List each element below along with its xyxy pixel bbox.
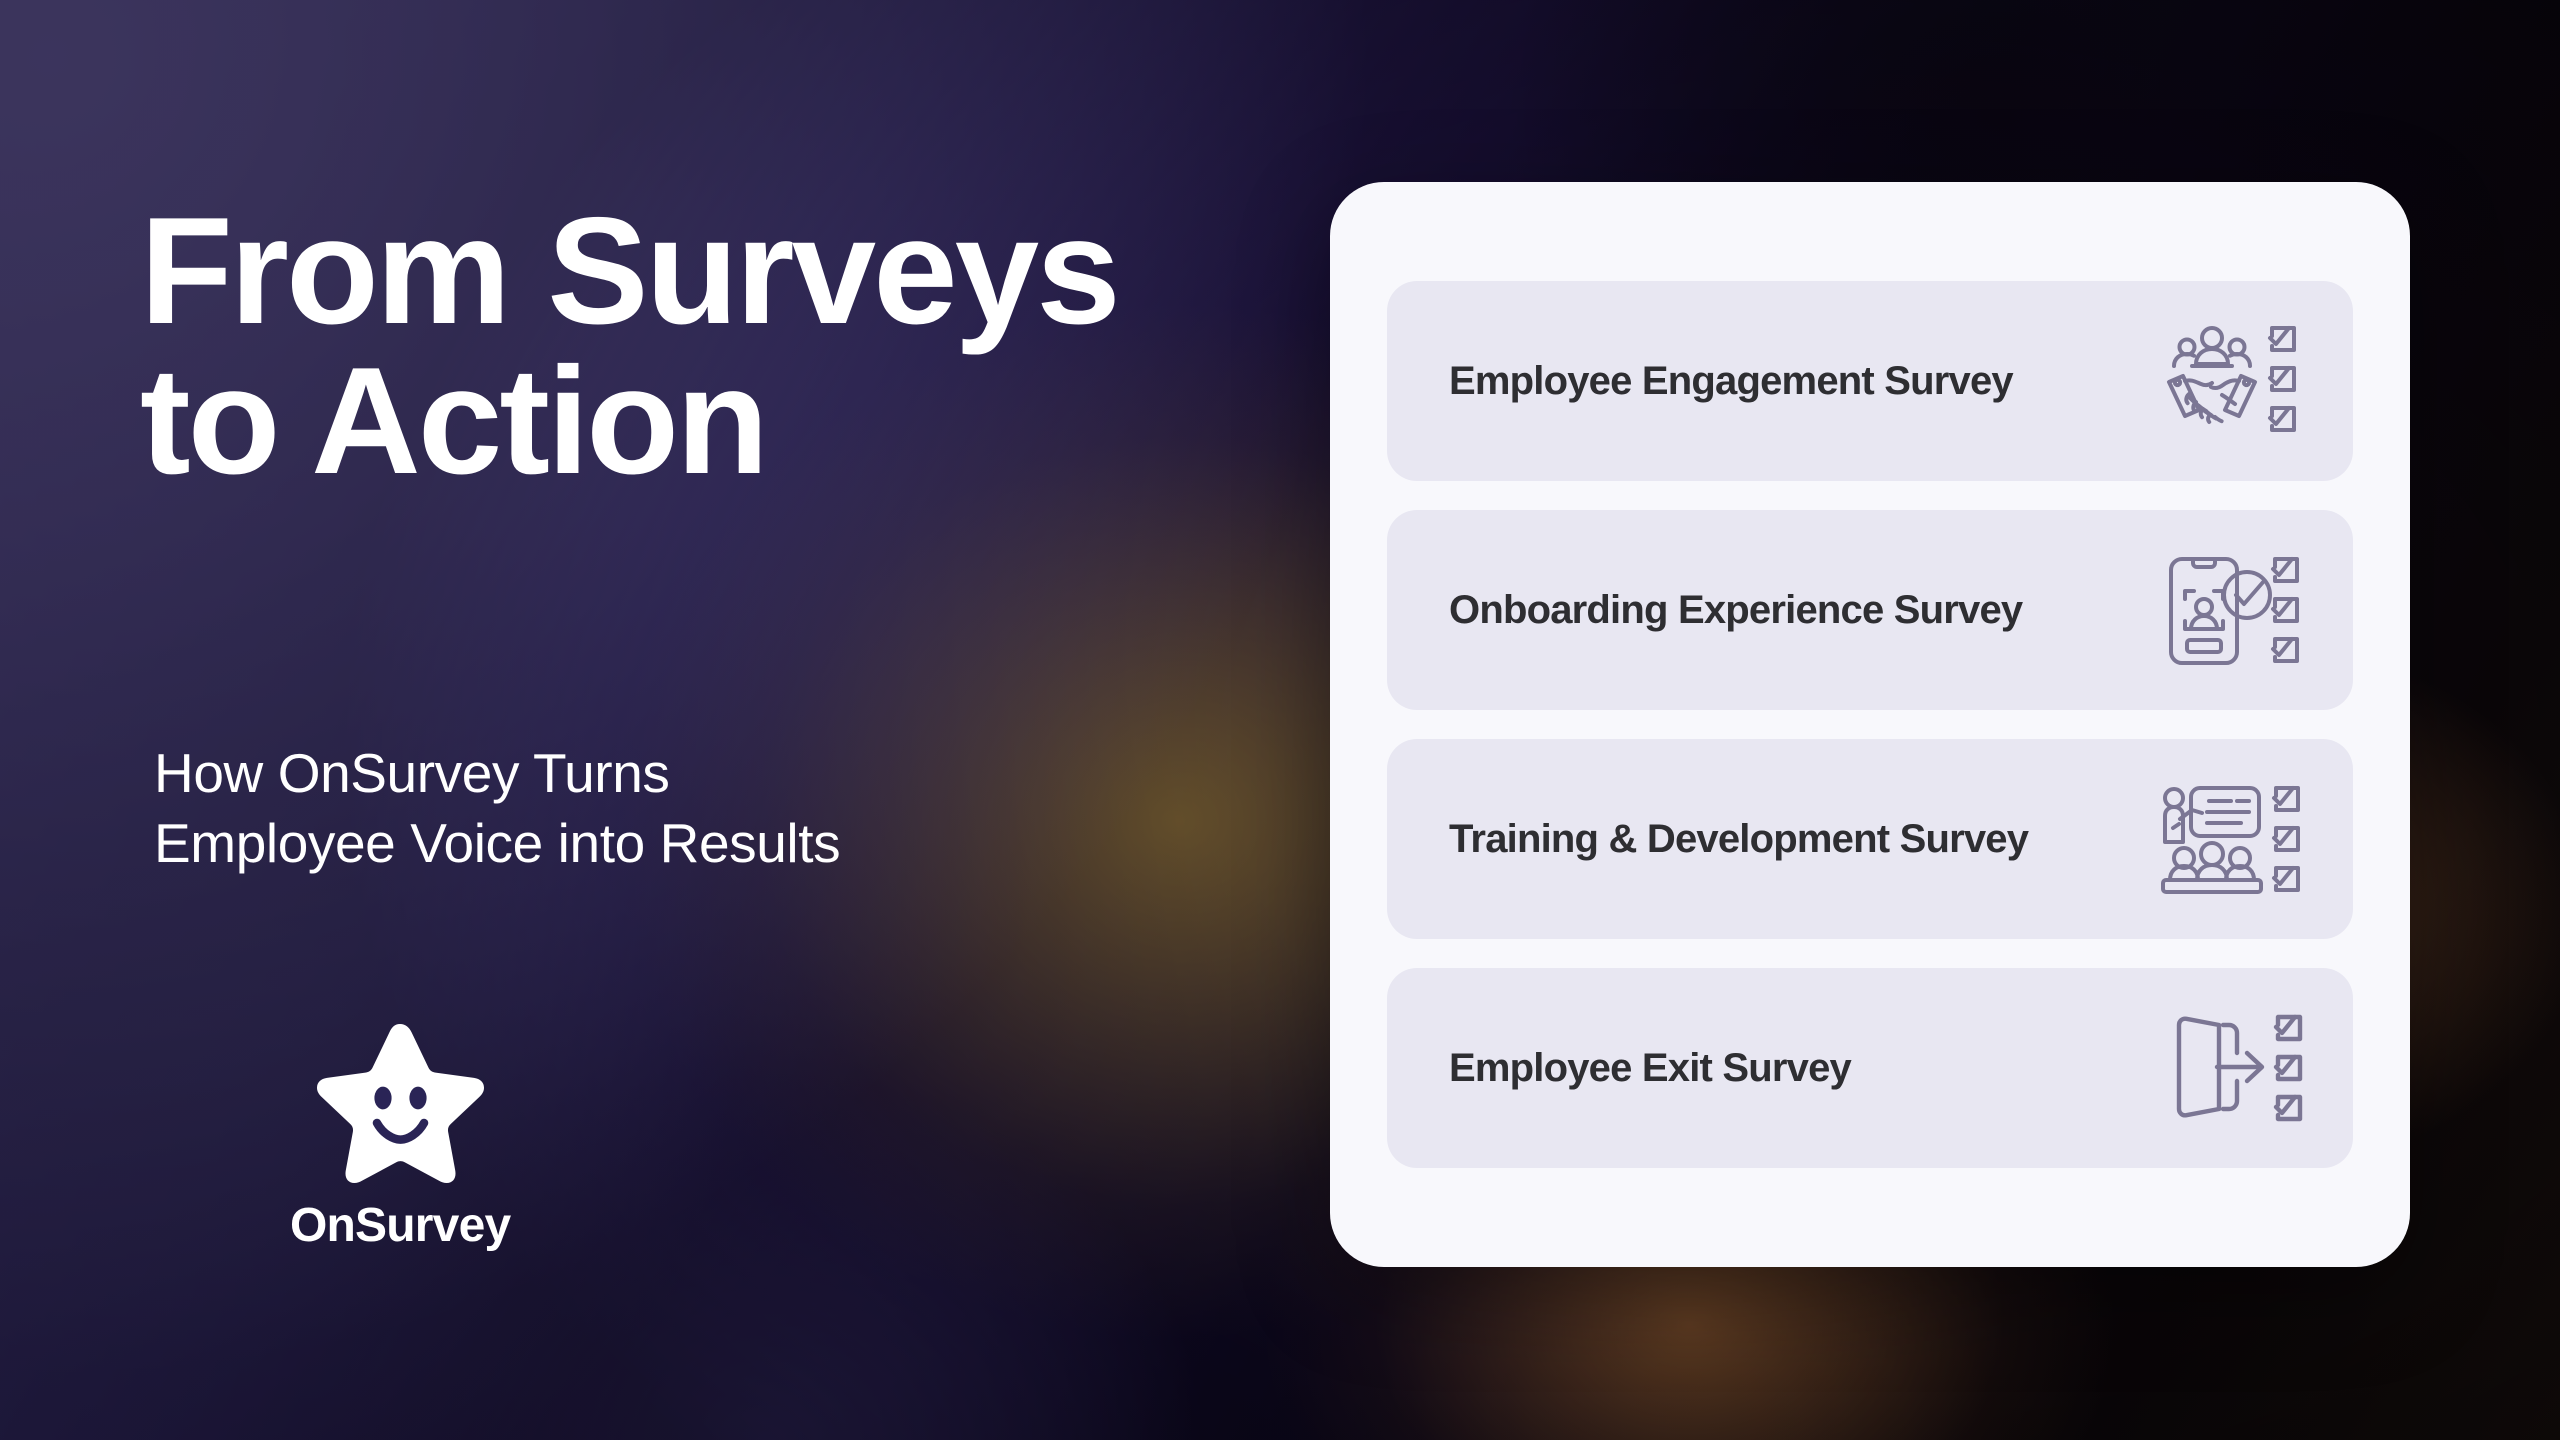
survey-card-onboarding-experience[interactable]: Onboarding Experience Survey: [1387, 510, 2353, 710]
hero-subtitle: How OnSurvey Turns Employee Voice into R…: [154, 738, 1174, 879]
page-title: From Surveys to Action: [140, 196, 1240, 497]
survey-card-employee-exit[interactable]: Employee Exit Survey: [1387, 968, 2353, 1168]
exit-door-arrow-checklist-icon: [2159, 1003, 2319, 1133]
brand-logo: OnSurvey: [290, 1022, 510, 1253]
survey-card-employee-engagement[interactable]: Employee Engagement Survey: [1387, 281, 2353, 481]
survey-card-label: Training & Development Survey: [1449, 817, 2028, 862]
team-handshake-checklist-icon: [2159, 316, 2319, 446]
survey-card-label: Employee Engagement Survey: [1449, 359, 2013, 404]
survey-card-label: Onboarding Experience Survey: [1449, 588, 2022, 633]
brand-name: OnSurvey: [290, 1198, 510, 1253]
mobile-profile-verified-checklist-icon: [2159, 545, 2319, 675]
headline-line-1: From Surveys: [140, 196, 1240, 346]
subtitle-line-1: How OnSurvey Turns: [154, 738, 1174, 808]
presentation-audience-checklist-icon: [2159, 774, 2319, 904]
headline-line-2: to Action: [140, 346, 1240, 496]
hero-left-column: From Surveys to Action How OnSurvey Turn…: [140, 0, 1260, 1440]
survey-card-label: Employee Exit Survey: [1449, 1046, 1851, 1091]
smiling-star-icon: [314, 1022, 486, 1184]
survey-list-panel: Employee Engagement Survey: [1330, 182, 2410, 1267]
survey-card-training-development[interactable]: Training & Development Survey: [1387, 739, 2353, 939]
subtitle-line-2: Employee Voice into Results: [154, 808, 1174, 878]
